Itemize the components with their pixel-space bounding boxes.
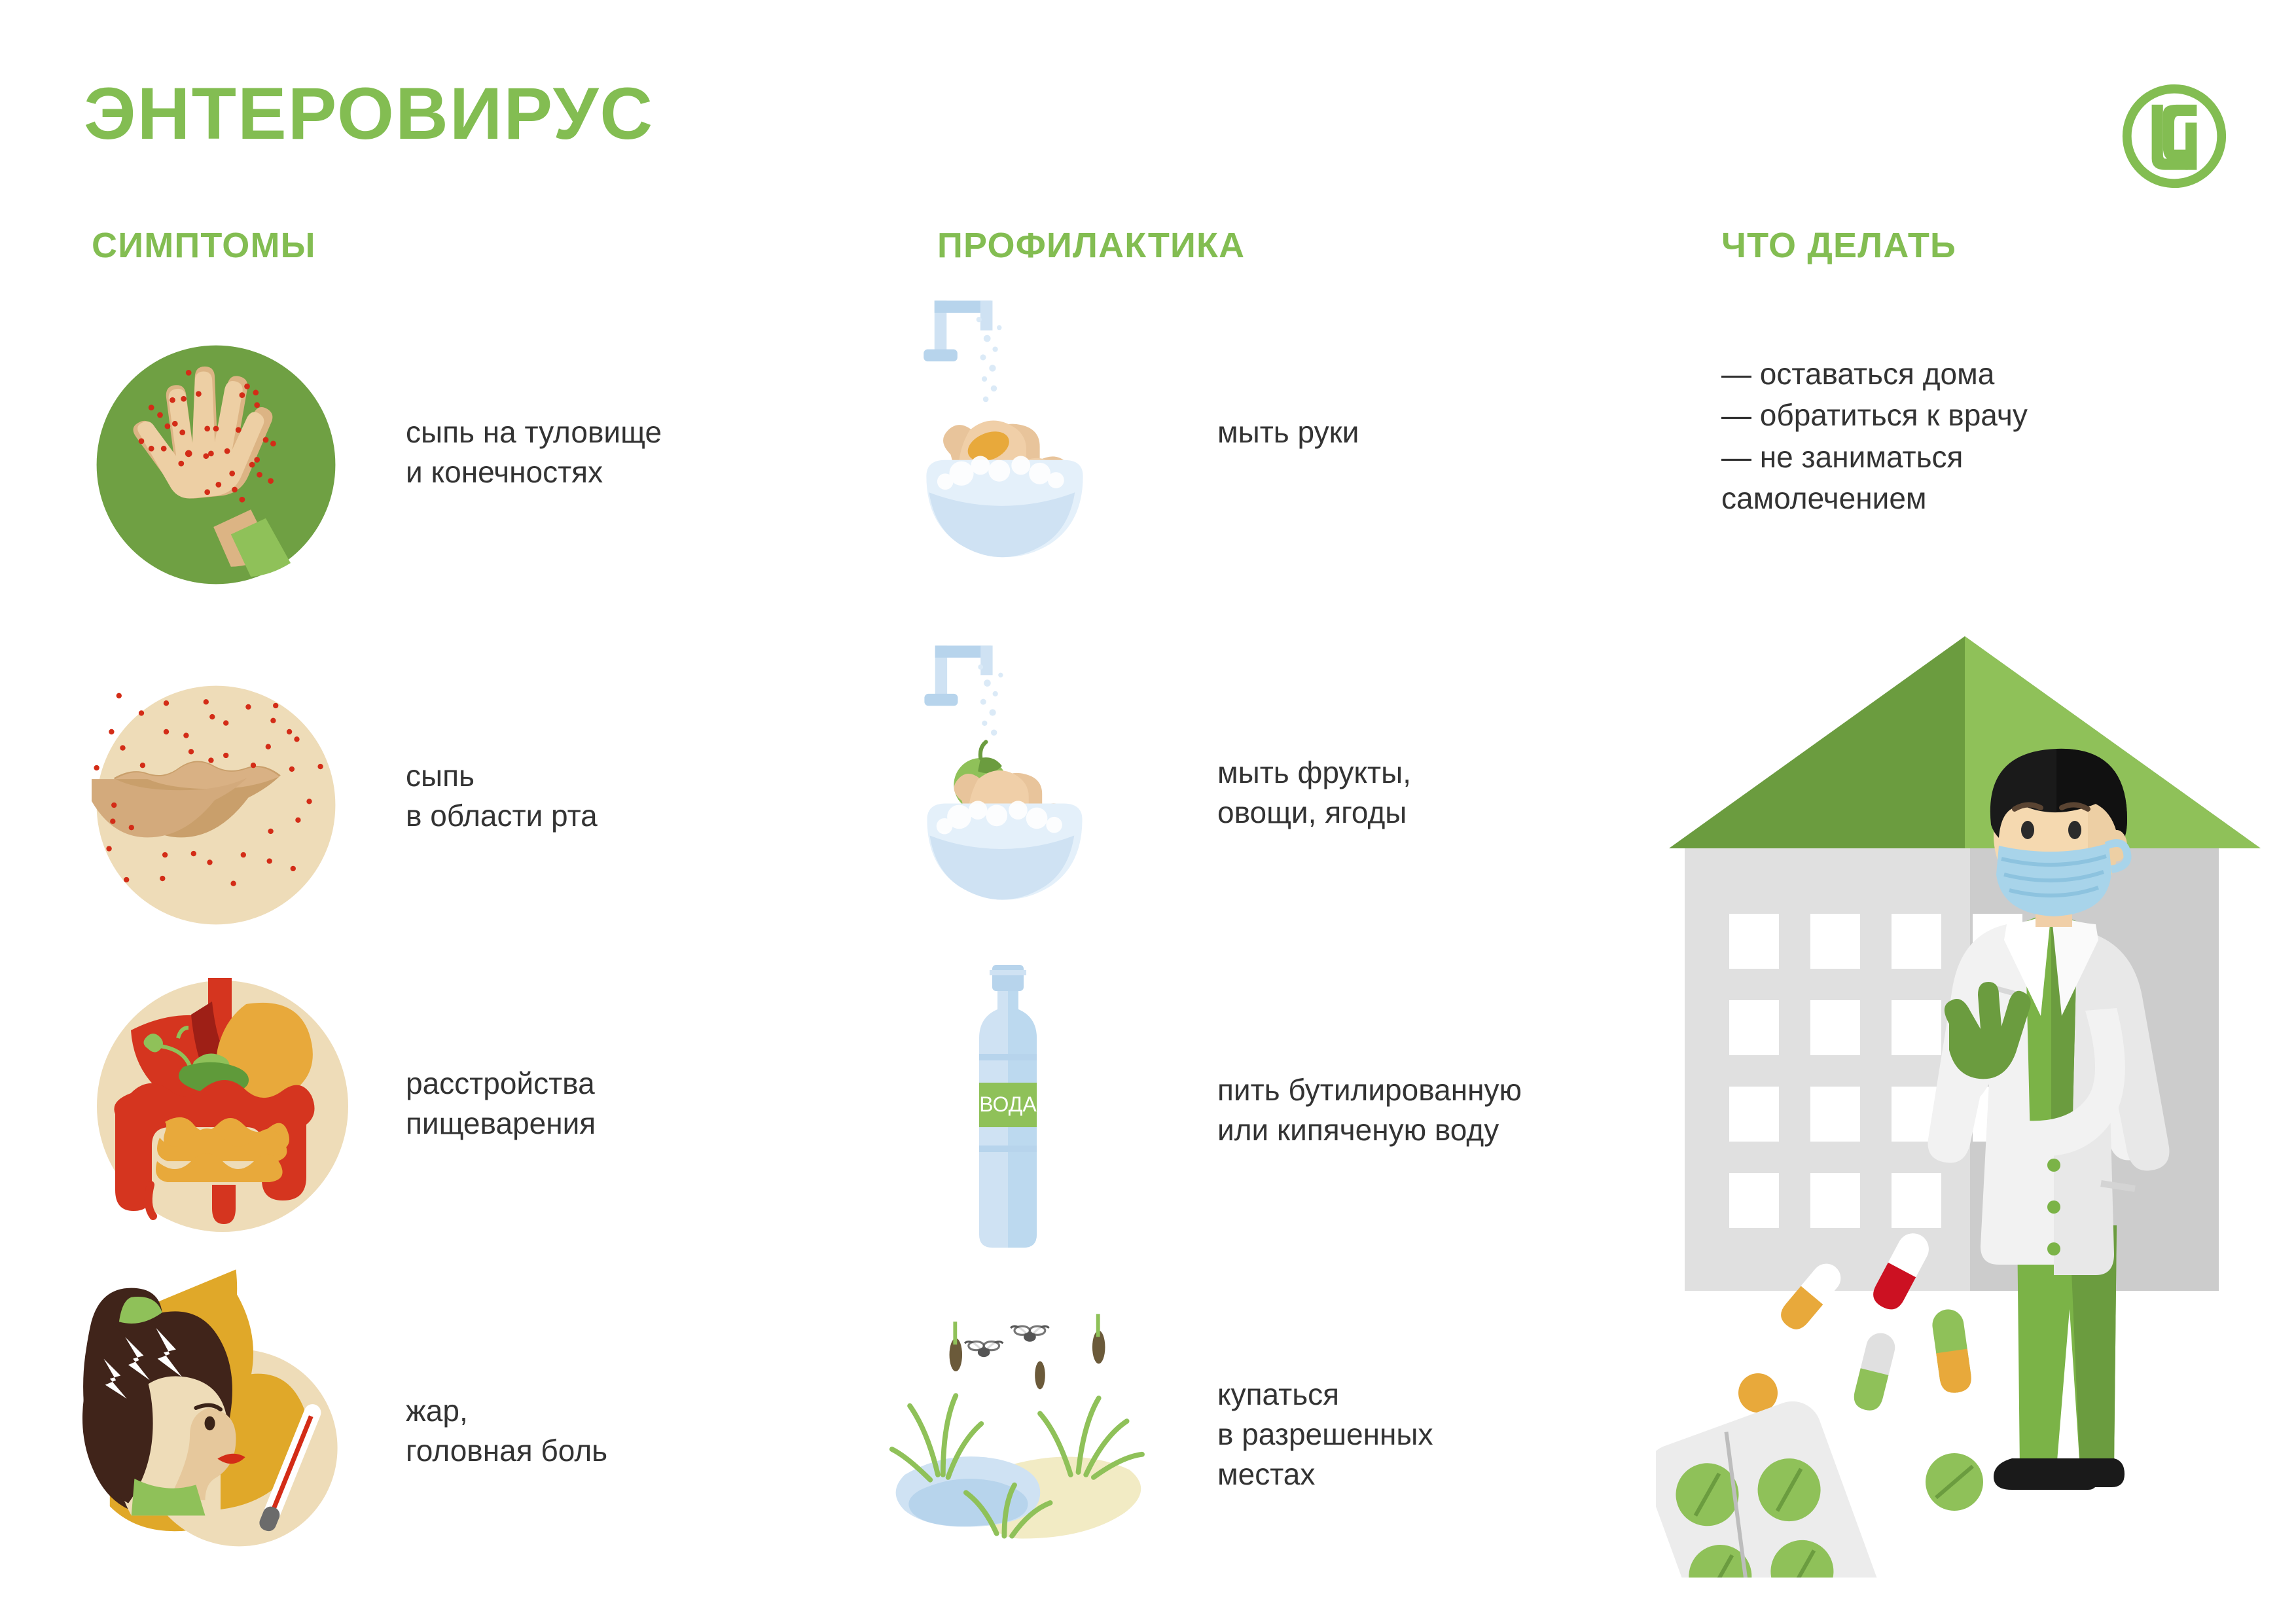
infographic-page: ЭНТЕРОВИРУС СИМПТОМЫ ПРОФИЛАКТИКА ЧТО ДЕ… <box>0 0 2296 1624</box>
pond-swimming-icon <box>870 1296 1158 1551</box>
section-heading-symptoms: СИМПТОМЫ <box>92 228 316 263</box>
symptom-label-2: сыпь в области рта <box>406 756 825 836</box>
symptom-label-3: расстройства пищеварения <box>406 1064 825 1144</box>
company-logo-icon <box>2118 80 2231 192</box>
fever-headache-icon <box>36 1263 344 1571</box>
mouth-rash-icon <box>92 681 340 929</box>
digestive-system-icon <box>92 975 353 1237</box>
washing-fruit-icon <box>897 635 1113 943</box>
prevention-label-1: мыть руки <box>1217 412 1715 452</box>
page-title: ЭНТЕРОВИРУС <box>84 77 654 151</box>
section-heading-prevention: ПРОФИЛАКТИКА <box>937 228 1245 263</box>
symptom-label-1: сыпь на туловище и конечностях <box>406 412 825 492</box>
washing-hands-icon <box>897 288 1113 602</box>
doctor-house-pills-illustration <box>1656 615 2271 1578</box>
prevention-label-2: мыть фрукты, овощи, ягоды <box>1217 753 1715 833</box>
bottle-label-text: ВОДА <box>979 1092 1037 1116</box>
prevention-label-4: купаться в разрешенных местах <box>1217 1375 1715 1495</box>
section-heading-what-to-do: ЧТО ДЕЛАТЬ <box>1721 228 1956 263</box>
hand-rash-icon <box>92 340 340 589</box>
what-to-do-list: — оставаться дома — обратиться к врачу —… <box>1721 353 2219 520</box>
symptom-label-4: жар, головная боль <box>406 1391 825 1471</box>
water-bottle-icon: ВОДА <box>942 962 1073 1250</box>
prevention-label-3: пить бутилированную или кипяченую воду <box>1217 1070 1715 1150</box>
